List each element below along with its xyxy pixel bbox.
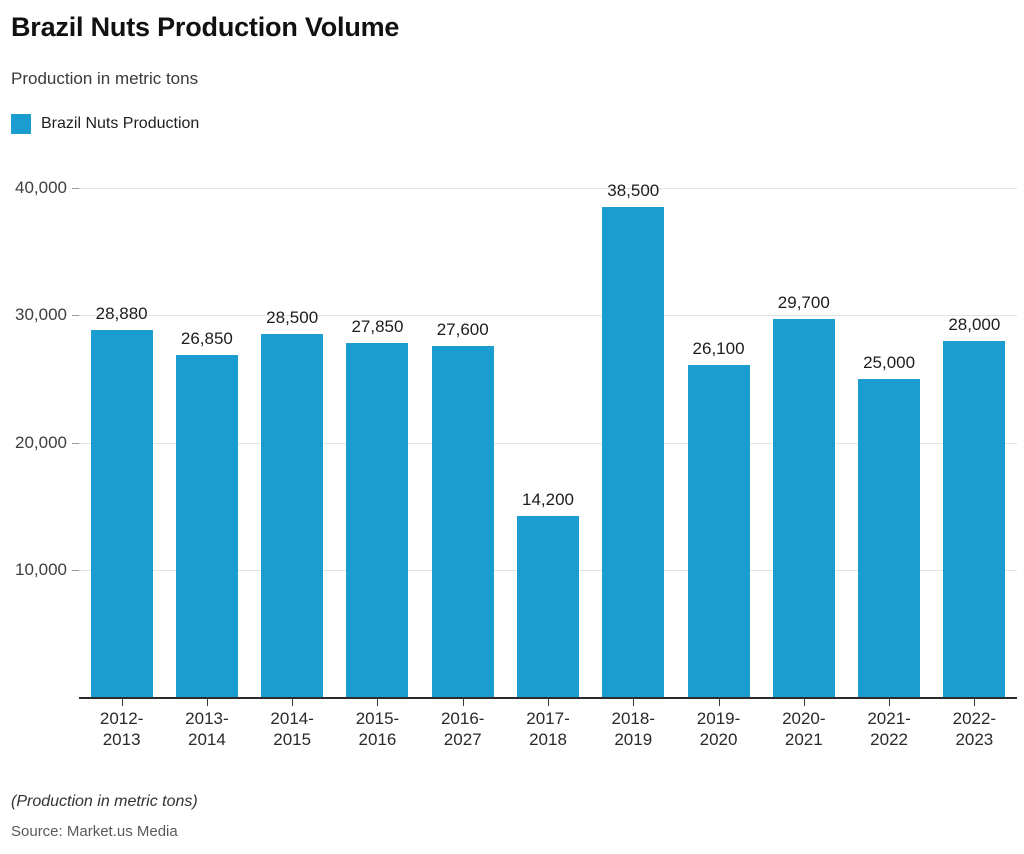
x-axis-tick-label-line: 2013- (185, 708, 228, 729)
x-axis-tick-label-line: 2015 (270, 729, 313, 750)
bar-value-label: 14,200 (522, 490, 574, 510)
x-axis-tick-label: 2019-2020 (697, 708, 740, 750)
bar-slot: 25,000 (846, 150, 931, 697)
bar-slot: 28,500 (250, 150, 335, 697)
bar-slot: 27,850 (335, 150, 420, 697)
x-axis-tick-label-line: 2021 (782, 729, 825, 750)
y-axis-tick-label: 10,000 (15, 560, 67, 580)
x-axis-tick (633, 697, 634, 706)
x-axis-tick (463, 697, 464, 706)
y-axis-tick (72, 570, 79, 571)
bar[interactable] (602, 207, 664, 697)
chart-footnote: (Production in metric tons) (11, 793, 198, 811)
x-axis-tick-label-line: 2014 (185, 729, 228, 750)
x-axis-tick (889, 697, 890, 706)
x-axis-tick-label-line: 2019- (697, 708, 740, 729)
y-axis-tick (72, 188, 79, 189)
bar[interactable] (91, 330, 153, 697)
bar-value-label: 26,850 (181, 329, 233, 349)
x-axis-tick-label-line: 2016 (356, 729, 399, 750)
x-axis-tick-label-line: 2022 (867, 729, 910, 750)
x-axis-tick-label-line: 2014- (270, 708, 313, 729)
y-axis-tick (72, 443, 79, 444)
bar-slot: 29,700 (761, 150, 846, 697)
x-axis-tick-label: 2016-2027 (441, 708, 484, 750)
bar-slot: 28,880 (79, 150, 164, 697)
bar[interactable] (773, 319, 835, 697)
x-axis-tick-label: 2014-2015 (270, 708, 313, 750)
x-axis-tick-label-line: 2018- (612, 708, 655, 729)
bar[interactable] (517, 516, 579, 697)
y-axis-tick-label: 30,000 (15, 305, 67, 325)
bar-value-label: 27,600 (437, 320, 489, 340)
bars-layer: 28,88026,85028,50027,85027,60014,20038,5… (79, 150, 1017, 697)
x-axis-tick-label-line: 2020- (782, 708, 825, 729)
chart-source: Source: Market.us Media (11, 823, 178, 840)
bar-slot: 14,200 (505, 150, 590, 697)
x-axis-tick (207, 697, 208, 706)
x-axis-tick-label: 2017-2018 (526, 708, 569, 750)
x-axis-tick-label-line: 2012- (100, 708, 143, 729)
x-axis-tick-label-line: 2017- (526, 708, 569, 729)
bar[interactable] (346, 343, 408, 697)
x-axis-tick (122, 697, 123, 706)
x-axis-tick (548, 697, 549, 706)
x-axis-tick-label-line: 2013 (100, 729, 143, 750)
x-axis-tick-label: 2020-2021 (782, 708, 825, 750)
x-axis-tick-label-line: 2016- (441, 708, 484, 729)
bar-value-label: 27,850 (351, 317, 403, 337)
bar[interactable] (688, 365, 750, 697)
x-axis-tick-label-line: 2021- (867, 708, 910, 729)
x-axis-tick (719, 697, 720, 706)
bar-slot: 26,850 (164, 150, 249, 697)
bar[interactable] (176, 355, 238, 697)
chart-page: Brazil Nuts Production Volume Production… (0, 0, 1024, 854)
x-axis-tick-label: 2015-2016 (356, 708, 399, 750)
bar-value-label: 28,500 (266, 308, 318, 328)
x-axis-tick-label-line: 2020 (697, 729, 740, 750)
bar-slot: 26,100 (676, 150, 761, 697)
bar-chart-plot: 10,00020,00030,00040,000 28,88026,85028,… (0, 0, 1024, 854)
x-axis-tick (804, 697, 805, 706)
x-axis-tick (292, 697, 293, 706)
y-axis-tick (72, 315, 79, 316)
x-axis-tick-label-line: 2018 (526, 729, 569, 750)
bar[interactable] (432, 346, 494, 697)
bar-slot: 38,500 (591, 150, 676, 697)
x-axis-tick-label: 2012-2013 (100, 708, 143, 750)
bar-slot: 28,000 (932, 150, 1017, 697)
bar[interactable] (858, 379, 920, 697)
bar-value-label: 38,500 (607, 181, 659, 201)
bar-value-label: 25,000 (863, 353, 915, 373)
x-axis-tick (974, 697, 975, 706)
bar[interactable] (943, 341, 1005, 697)
x-axis-tick-label: 2013-2014 (185, 708, 228, 750)
x-axis-tick-label-line: 2015- (356, 708, 399, 729)
x-axis-tick-label-line: 2022- (953, 708, 996, 729)
x-axis-tick-label: 2021-2022 (867, 708, 910, 750)
x-axis-tick-label-line: 2019 (612, 729, 655, 750)
bar-value-label: 28,000 (948, 315, 1000, 335)
x-axis-tick-label: 2018-2019 (612, 708, 655, 750)
x-axis-tick (377, 697, 378, 706)
bar[interactable] (261, 334, 323, 697)
x-axis-tick-label-line: 2027 (441, 729, 484, 750)
x-axis-tick-label: 2022-2023 (953, 708, 996, 750)
bar-slot: 27,600 (420, 150, 505, 697)
bar-value-label: 26,100 (693, 339, 745, 359)
bar-value-label: 29,700 (778, 293, 830, 313)
x-axis-tick-label-line: 2023 (953, 729, 996, 750)
y-axis-tick-label: 20,000 (15, 433, 67, 453)
y-axis-tick-label: 40,000 (15, 178, 67, 198)
bar-value-label: 28,880 (96, 304, 148, 324)
